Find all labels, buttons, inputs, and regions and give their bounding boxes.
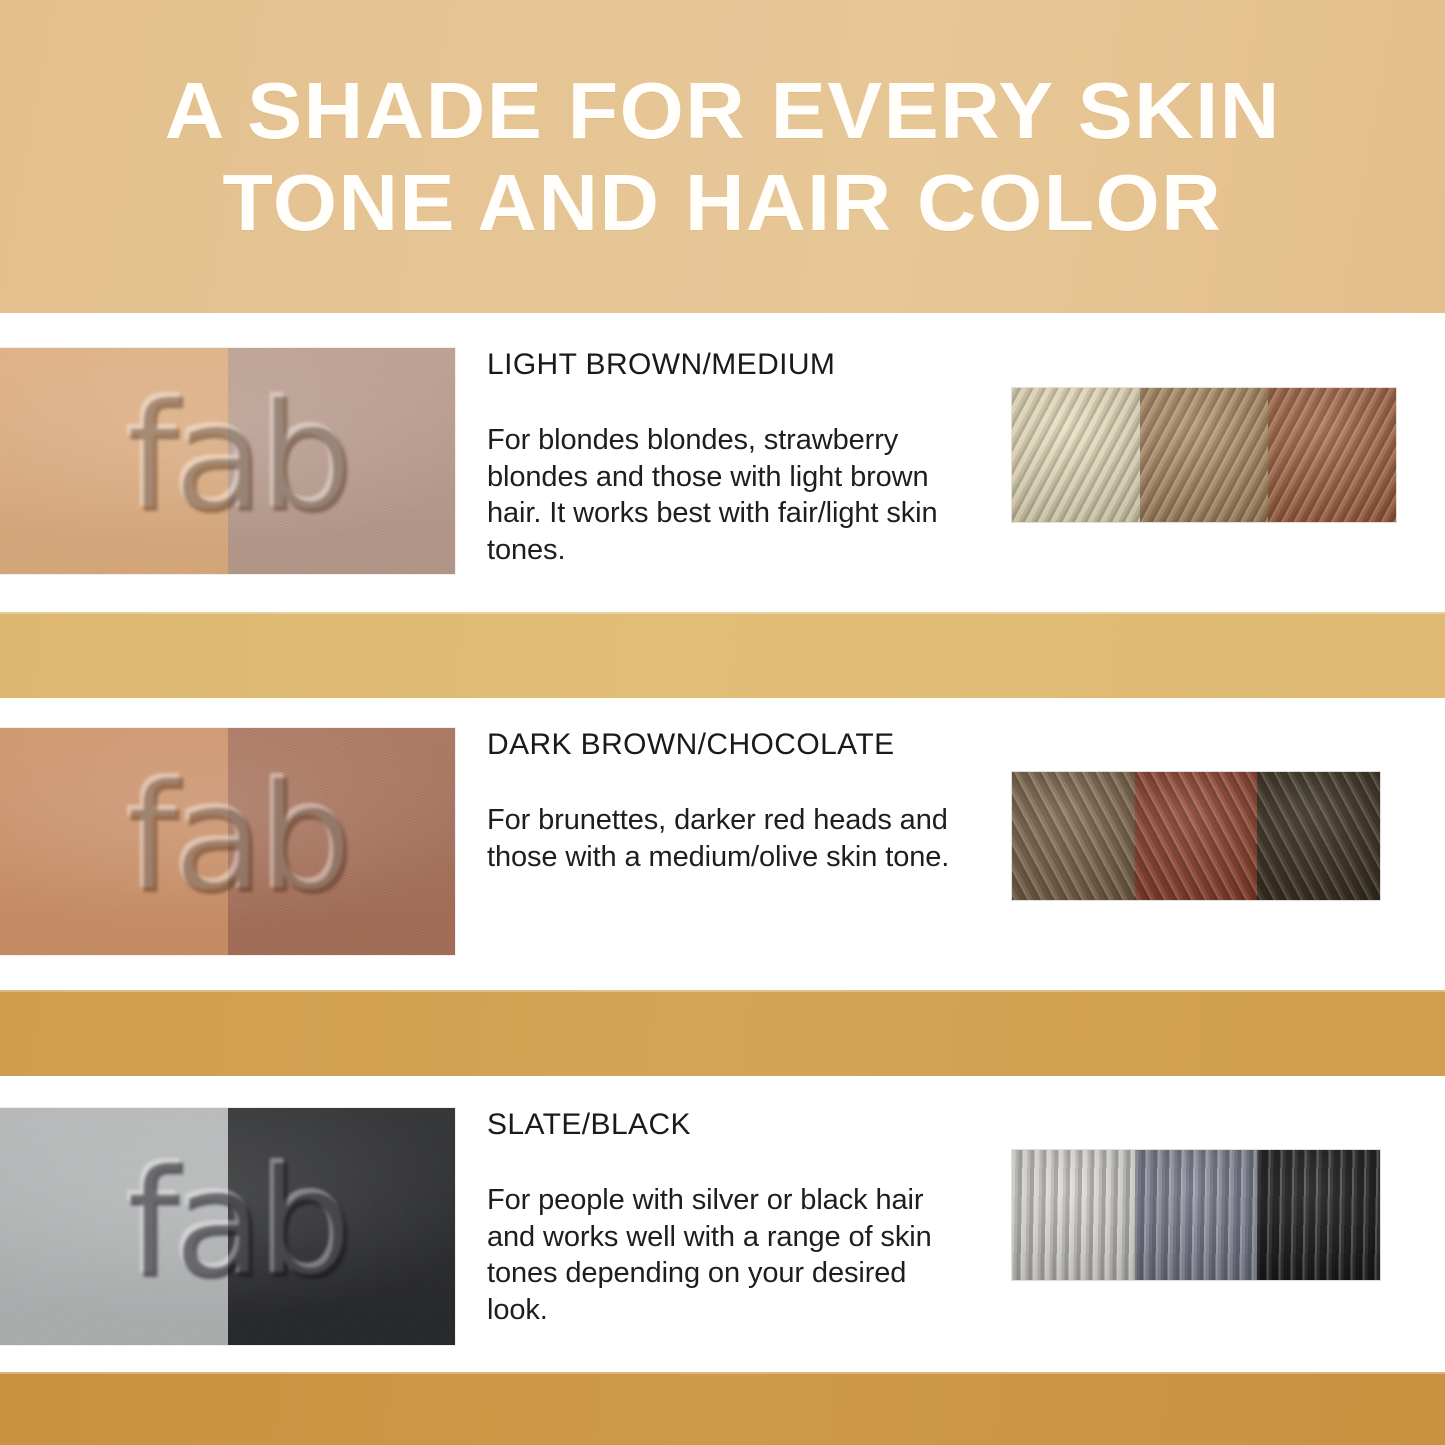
headline-line-1: A SHADE FOR EVERY SKIN — [164, 66, 1280, 156]
product-pan-light-brown-medium: fab — [0, 348, 455, 574]
shade-description: For blondes blondes, strawberry blondes … — [487, 422, 967, 568]
hair-swatch-pale-blonde — [1012, 388, 1140, 522]
pan-half-left — [0, 348, 228, 574]
band-highlight — [0, 1372, 1445, 1374]
hair-swatch-strip-2 — [1012, 772, 1380, 900]
hair-swatch-shading — [1257, 772, 1380, 900]
shade-text-block-2: DARK BROWN/CHOCOLATE For brunettes, dark… — [487, 728, 987, 875]
shade-row-light-brown-medium: fab LIGHT BROWN/MEDIUM For blondes blond… — [0, 348, 1445, 574]
band-highlight — [0, 990, 1445, 992]
hair-swatch-strip-3 — [1012, 1150, 1380, 1280]
hair-swatch-shading — [1012, 1150, 1135, 1280]
pan-half-right — [228, 1108, 456, 1345]
hair-swatch-shading — [1140, 388, 1268, 522]
hair-swatch-medium-ash-brown — [1012, 772, 1135, 900]
footer-band — [0, 1372, 1445, 1445]
product-pan-slate-black: fab — [0, 1108, 455, 1345]
divider-band-1 — [0, 612, 1445, 698]
shade-title: SLATE/BLACK — [487, 1108, 987, 1142]
hair-swatch-shading — [1012, 772, 1135, 900]
header-banner: A SHADE FOR EVERY SKIN TONE AND HAIR COL… — [0, 0, 1445, 313]
pan-half-left — [0, 728, 228, 955]
shade-title: DARK BROWN/CHOCOLATE — [487, 728, 987, 762]
divider-band-2 — [0, 990, 1445, 1076]
hair-swatch-shading — [1012, 388, 1140, 522]
headline-line-2: TONE AND HAIR COLOR — [223, 158, 1223, 248]
hair-swatch-golden-light-brown — [1140, 388, 1268, 522]
pan-half-right — [228, 348, 456, 574]
hair-swatch-shading — [1135, 1150, 1258, 1280]
hair-swatch-steel-gray — [1135, 1150, 1258, 1280]
pan-half-right — [228, 728, 456, 955]
hair-swatch-silver-white — [1012, 1150, 1135, 1280]
hair-swatch-black — [1257, 1150, 1380, 1280]
hair-swatch-red-auburn — [1135, 772, 1258, 900]
pan-half-left — [0, 1108, 228, 1345]
product-pan-dark-brown-chocolate: fab — [0, 728, 455, 955]
hair-swatch-shading — [1257, 1150, 1380, 1280]
band-highlight — [0, 612, 1445, 614]
shade-text-block-1: LIGHT BROWN/MEDIUM For blondes blondes, … — [487, 348, 987, 568]
hair-swatch-copper-auburn — [1268, 388, 1396, 522]
shade-row-slate-black: fab SLATE/BLACK For people with silver o… — [0, 1108, 1445, 1345]
hair-swatch-strip-1 — [1012, 388, 1396, 522]
shade-row-dark-brown-chocolate: fab DARK BROWN/CHOCOLATE For brunettes, … — [0, 728, 1445, 955]
hair-swatch-shading — [1135, 772, 1258, 900]
shade-description: For people with silver or black hair and… — [487, 1182, 967, 1328]
hair-swatch-shading — [1268, 388, 1396, 522]
shade-description: For brunettes, darker red heads and thos… — [487, 802, 967, 875]
hair-swatch-dark-brown — [1257, 772, 1380, 900]
shade-title: LIGHT BROWN/MEDIUM — [487, 348, 987, 382]
shade-text-block-3: SLATE/BLACK For people with silver or bl… — [487, 1108, 987, 1328]
